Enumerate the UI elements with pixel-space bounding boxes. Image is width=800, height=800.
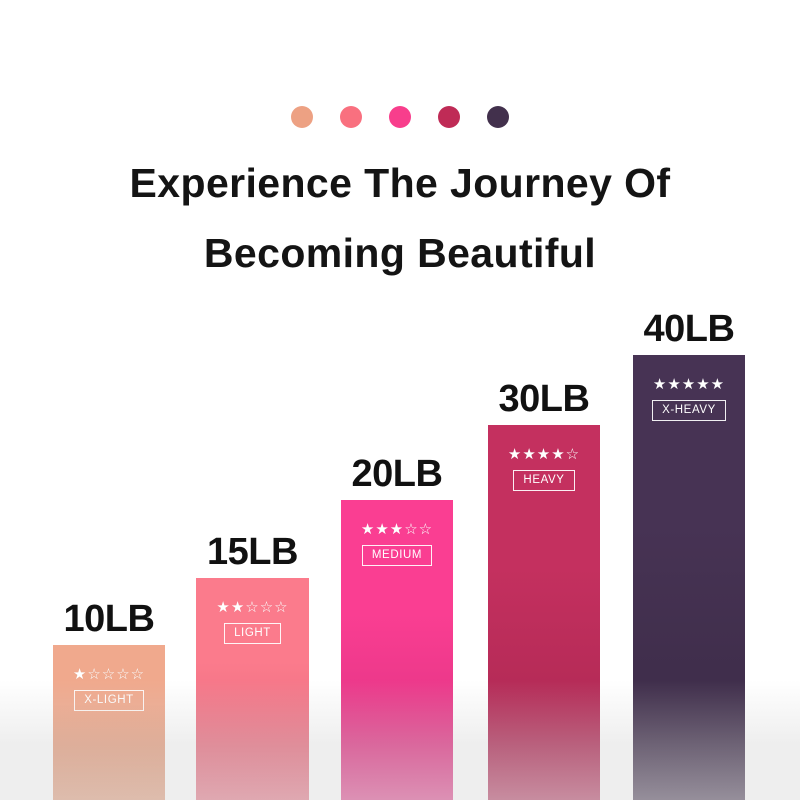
- bar-10lb-badge: ★☆☆☆☆X-LIGHT: [53, 667, 165, 711]
- bar-10lb-fill: ★☆☆☆☆X-LIGHT: [53, 645, 165, 800]
- bar-30lb-fill: ★★★★☆HEAVY: [488, 425, 600, 800]
- dot-medium-swatch: [389, 106, 411, 128]
- bar-20lb-tier-label: MEDIUM: [362, 545, 432, 566]
- bar-10lb-star-rating: ★☆☆☆☆: [73, 667, 145, 683]
- bar-40lb: 40LB★★★★★X-HEAVY: [633, 355, 745, 800]
- bar-30lb-tier-label: HEAVY: [513, 470, 574, 491]
- bar-20lb-star-rating: ★★★☆☆: [361, 522, 433, 538]
- bar-20lb-weight-label: 20LB: [352, 452, 443, 496]
- bar-10lb-tier-label: X-LIGHT: [74, 690, 144, 711]
- bar-40lb-weight-label: 40LB: [644, 307, 735, 351]
- bar-30lb-weight-label: 30LB: [499, 377, 590, 421]
- bar-15lb: 15LB★★☆☆☆LIGHT: [196, 578, 309, 800]
- bar-20lb-fill: ★★★☆☆MEDIUM: [341, 500, 453, 800]
- bar-40lb-badge: ★★★★★X-HEAVY: [633, 377, 745, 421]
- bar-30lb-star-rating: ★★★★☆: [508, 447, 580, 463]
- bar-15lb-weight-label: 15LB: [207, 530, 298, 574]
- bar-30lb: 30LB★★★★☆HEAVY: [488, 425, 600, 800]
- dot-heavy-swatch: [438, 106, 460, 128]
- bar-15lb-fill: ★★☆☆☆LIGHT: [196, 578, 309, 800]
- bar-40lb-fill: ★★★★★X-HEAVY: [633, 355, 745, 800]
- color-swatch-row: [0, 106, 800, 128]
- bar-20lb-badge: ★★★☆☆MEDIUM: [341, 522, 453, 566]
- bar-10lb: 10LB★☆☆☆☆X-LIGHT: [53, 645, 165, 800]
- bar-15lb-badge: ★★☆☆☆LIGHT: [196, 600, 309, 644]
- headline: Experience The Journey Of Becoming Beaut…: [0, 148, 800, 288]
- bar-40lb-star-rating: ★★★★★: [653, 377, 725, 393]
- bar-30lb-badge: ★★★★☆HEAVY: [488, 447, 600, 491]
- dot-light-swatch: [340, 106, 362, 128]
- bar-20lb: 20LB★★★☆☆MEDIUM: [341, 500, 453, 800]
- dot-x-light-swatch: [291, 106, 313, 128]
- bar-40lb-tier-label: X-HEAVY: [652, 400, 726, 421]
- bar-15lb-star-rating: ★★☆☆☆: [216, 600, 288, 616]
- product-infographic: Experience The Journey Of Becoming Beaut…: [0, 0, 800, 800]
- headline-line-1: Experience The Journey Of: [0, 148, 800, 218]
- bar-10lb-weight-label: 10LB: [64, 597, 155, 641]
- dot-x-heavy-swatch: [487, 106, 509, 128]
- headline-line-2: Becoming Beautiful: [0, 218, 800, 288]
- bar-15lb-tier-label: LIGHT: [224, 623, 281, 644]
